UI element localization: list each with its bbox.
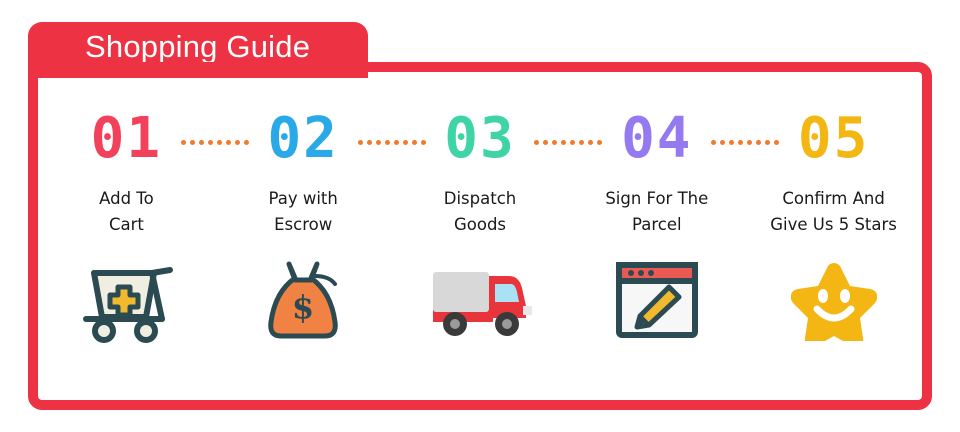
shopping-cart-icon (71, 254, 181, 346)
step-number-1: 01 (91, 106, 162, 172)
step-caption-2: Pay with Escrow (269, 186, 338, 238)
step-caption-1: Add To Cart (99, 186, 154, 238)
money-bag-icon: $ (248, 254, 358, 346)
page-title: Shopping Guide (85, 29, 310, 65)
smiling-star-icon (779, 254, 889, 346)
step-caption-4: Sign For The Parcel (605, 186, 708, 238)
step-number-4: 04 (621, 106, 692, 172)
steps-row: 01 Add To Cart 02 Pay with Escrow (38, 72, 922, 400)
svg-text:$: $ (292, 288, 314, 326)
step-1: 01 Add To Cart (38, 72, 215, 346)
step-number-5: 05 (798, 106, 869, 172)
step-caption-3: Dispatch Goods (444, 186, 516, 238)
step-caption-5: Confirm And Give Us 5 Stars (770, 186, 897, 238)
sign-document-icon (602, 254, 712, 346)
step-5: 05 Confirm And Give Us 5 Stars (745, 72, 922, 346)
step-4: 04 Sign For The Parcel (568, 72, 745, 346)
tab-joint (28, 62, 368, 74)
step-3: 03 Dispatch Goods (392, 72, 569, 346)
step-2: 02 Pay with Escrow $ (215, 72, 392, 346)
step-number-2: 02 (267, 106, 338, 172)
delivery-truck-icon (425, 254, 535, 346)
step-number-3: 03 (444, 106, 515, 172)
